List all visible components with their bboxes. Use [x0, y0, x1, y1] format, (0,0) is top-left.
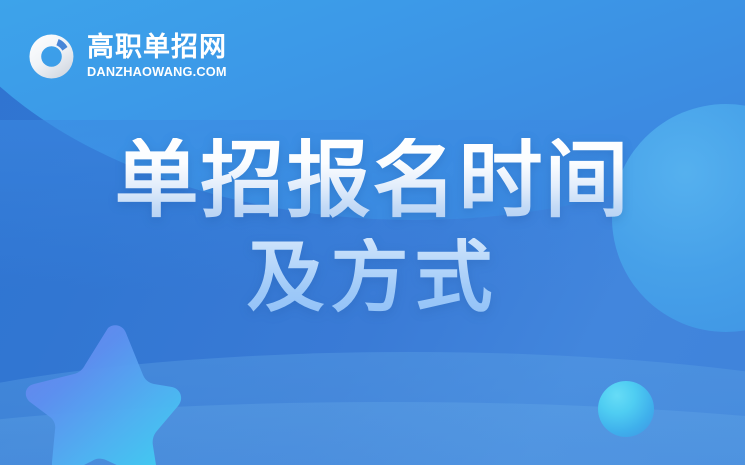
small-cyan-circle [598, 381, 654, 437]
bottom-wave [0, 352, 745, 465]
headline-line-2: 及方式 [0, 238, 745, 316]
site-logo[interactable]: 高职单招网 DANZHAOWANG.COM [28, 33, 227, 80]
logo-domain: DANZHAOWANG.COM [87, 66, 230, 79]
promo-banner: 高职单招网 DANZHAOWANG.COM 单招报名时间 及方式 [0, 0, 745, 465]
logo-chinese-name: 高职单招网 [87, 34, 227, 61]
headline-line-1: 单招报名时间 [0, 138, 745, 222]
bottom-wave-secondary [0, 402, 745, 465]
logo-text-block: 高职单招网 DANZHAOWANG.COM [87, 34, 227, 79]
donut-ring-logo-icon [28, 33, 75, 80]
headline-block: 单招报名时间 及方式 [0, 138, 745, 316]
rounded-star-icon [22, 322, 182, 465]
